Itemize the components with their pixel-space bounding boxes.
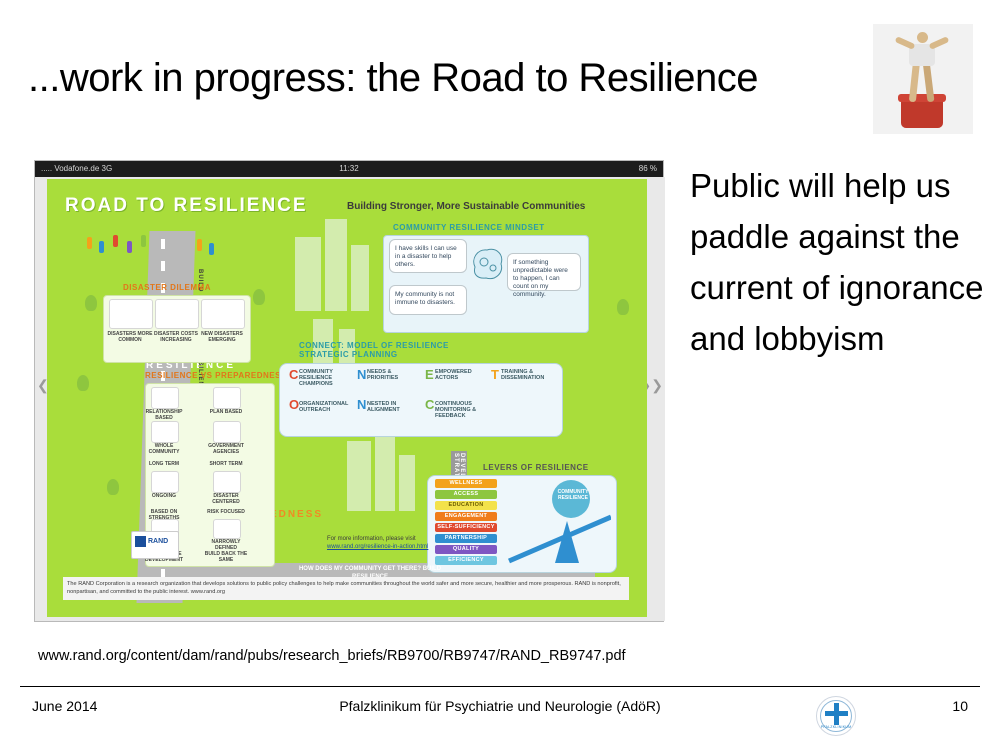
section-label-disaster-dilemma: DISASTER DILEMMA	[123, 283, 211, 292]
source-url: www.rand.org/content/dam/rand/pubs/resea…	[38, 648, 626, 664]
poster-page: ❮❮ ❯❯	[35, 177, 665, 621]
logo-label: PFALZKLINIKUM	[817, 725, 855, 729]
road-to-resilience-poster: RESILIENCE PREPAREDNESS ROAD TO RESILIEN…	[47, 179, 647, 617]
compare-icon-right-2	[213, 421, 241, 443]
photo-pot	[901, 98, 943, 128]
connect-word-6: NESTED IN ALIGNMENT	[367, 401, 411, 413]
building-shape	[347, 441, 371, 511]
lever-bar-3: EDUCATION	[435, 501, 497, 510]
disaster-icon-3	[201, 299, 245, 329]
compare-left-2: WHOLE COMMUNITY	[141, 443, 187, 455]
compare-left-4: ONGOING	[141, 493, 187, 499]
building-shape	[325, 219, 347, 311]
infographic-screenshot: ..... Vodafone.de 3G 11:32 86 % ❮❮ ❯❯	[34, 160, 664, 622]
section-label-connect-model: CONNECT: MODEL OF RESILIENCE STRATEGIC P…	[299, 341, 489, 359]
pfalzklinikum-logo: PFALZKLINIKUM	[816, 696, 856, 736]
tree-icon	[253, 289, 265, 305]
compare-icon-right-4	[213, 471, 241, 493]
connect-letter-1: C	[289, 367, 298, 382]
connect-word-3: EMPOWERED ACTORS	[435, 369, 479, 381]
connect-letter-4: T	[491, 367, 499, 382]
rand-logo: RAND	[131, 531, 179, 559]
connect-word-1: COMMUNITY RESILIENCE CHAMPIONS	[299, 369, 343, 387]
footer-divider	[20, 686, 980, 687]
tree-icon	[77, 375, 89, 391]
disaster-caption-2: DISASTER COSTS INCREASING	[153, 331, 199, 343]
section-label-resilience-vs-preparedness: RESILIENCE VS PREPAREDNESS	[145, 371, 287, 380]
person-icon	[209, 243, 214, 255]
disaster-caption-1: DISASTERS MORE COMMON	[107, 331, 153, 343]
disaster-caption-3: NEW DISASTERS EMERGING	[199, 331, 245, 343]
connect-word-2: NEEDS & PRIORITIES	[367, 369, 411, 381]
lever-bar-4: ENGAGEMENT	[435, 512, 497, 521]
rand-logo-text: RAND	[148, 538, 168, 545]
page-title: ...work in progress: the Road to Resilie…	[28, 56, 758, 101]
lever-bar-5: SELF-SUFFICIENCY	[435, 523, 497, 532]
photo-head	[917, 32, 928, 43]
connect-word-7: CONTINUOUS MONITORING & FEEDBACK	[435, 401, 479, 419]
battery-label: 86 %	[639, 161, 657, 177]
connect-letter-7: C	[425, 397, 434, 412]
logo-cross-horizontal	[825, 711, 848, 716]
section-label-community-mindset: COMMUNITY RESILIENCE MINDSET	[393, 223, 545, 232]
lever-bar-8: EFFICIENCY	[435, 556, 497, 565]
building-shape	[399, 455, 415, 511]
building-shape	[351, 245, 369, 311]
poster-title: ROAD TO RESILIENCE	[65, 195, 308, 217]
compare-right-1: PLAN BASED	[203, 409, 249, 415]
building-shape	[295, 237, 321, 311]
compare-icon-left-2	[151, 421, 179, 443]
person-icon	[141, 235, 146, 247]
compare-icon-left-1	[151, 387, 179, 409]
mindset-bubble-2: If something unpredictable were to happe…	[507, 253, 581, 291]
compare-right-6: NARROWLY DEFINED	[203, 539, 249, 551]
compare-right-3: SHORT TERM	[203, 461, 249, 467]
acrobat-figure-photo	[873, 24, 973, 134]
footer-page-number: 10	[952, 698, 968, 714]
person-icon	[99, 241, 104, 253]
poster-subtitle: Building Stronger, More Sustainable Comm…	[347, 201, 585, 212]
compare-icon-left-4	[151, 471, 179, 493]
connect-letter-3: E	[425, 367, 434, 382]
more-info-block: For more information, please visit www.r…	[327, 535, 428, 551]
lever-bar-2: ACCESS	[435, 490, 497, 499]
person-icon	[127, 241, 132, 253]
more-info-link[interactable]: www.rand.org/resilience-in-action.html	[327, 544, 428, 550]
compare-left-1: RELATIONSHIP BASED	[141, 409, 187, 421]
mindset-bubble-1: I have skills I can use in a disaster to…	[389, 239, 467, 273]
connect-letter-2: N	[357, 367, 366, 382]
disaster-icon-1	[109, 299, 153, 329]
lever-bar-6: PARTNERSHIP	[435, 534, 497, 543]
compare-right-2: GOVERNMENT AGENCIES	[203, 443, 249, 455]
more-info-text: For more information, please visit	[327, 536, 416, 542]
fulcrum-label: COMMUNITY RESILIENCE	[555, 489, 591, 501]
compare-left-3: LONG TERM	[141, 461, 187, 467]
disaster-icon-2	[155, 299, 199, 329]
connect-word-4: TRAINING & DISSEMINATION	[501, 369, 545, 381]
person-icon	[87, 237, 92, 249]
compare-icon-right-6	[213, 519, 241, 539]
lever-bar-7: QUALITY	[435, 545, 497, 554]
person-icon	[113, 235, 118, 247]
rand-logo-mark	[135, 536, 146, 547]
tree-icon	[107, 479, 119, 495]
compare-right-7: BUILD BACK THE SAME	[203, 551, 249, 563]
brain-icon	[471, 245, 505, 285]
connect-letter-6: N	[357, 397, 366, 412]
building-shape	[375, 425, 395, 511]
lever-bar-1: WELLNESS	[435, 479, 497, 488]
compare-icon-right-1	[213, 387, 241, 409]
tree-icon	[85, 295, 97, 311]
clock-label: 11:32	[35, 161, 663, 177]
rand-disclaimer: The RAND Corporation is a research organ…	[63, 577, 629, 600]
connect-letter-5: O	[289, 397, 299, 412]
compare-right-4: DISASTER CENTERED	[203, 493, 249, 505]
device-status-bar: ..... Vodafone.de 3G 11:32 86 %	[35, 161, 663, 177]
slide-body-text: Public will help us paddle against the c…	[690, 160, 990, 364]
section-label-levers: LEVERS OF RESILIENCE	[483, 463, 589, 472]
compare-right-5: RISK FOCUSED	[203, 509, 249, 515]
connect-word-5: ORGANIZATIONAL OUTREACH	[299, 401, 343, 413]
person-icon	[197, 239, 202, 251]
mindset-bubble-3: My community is not immune to disasters.	[389, 285, 467, 315]
tree-icon	[617, 299, 629, 315]
